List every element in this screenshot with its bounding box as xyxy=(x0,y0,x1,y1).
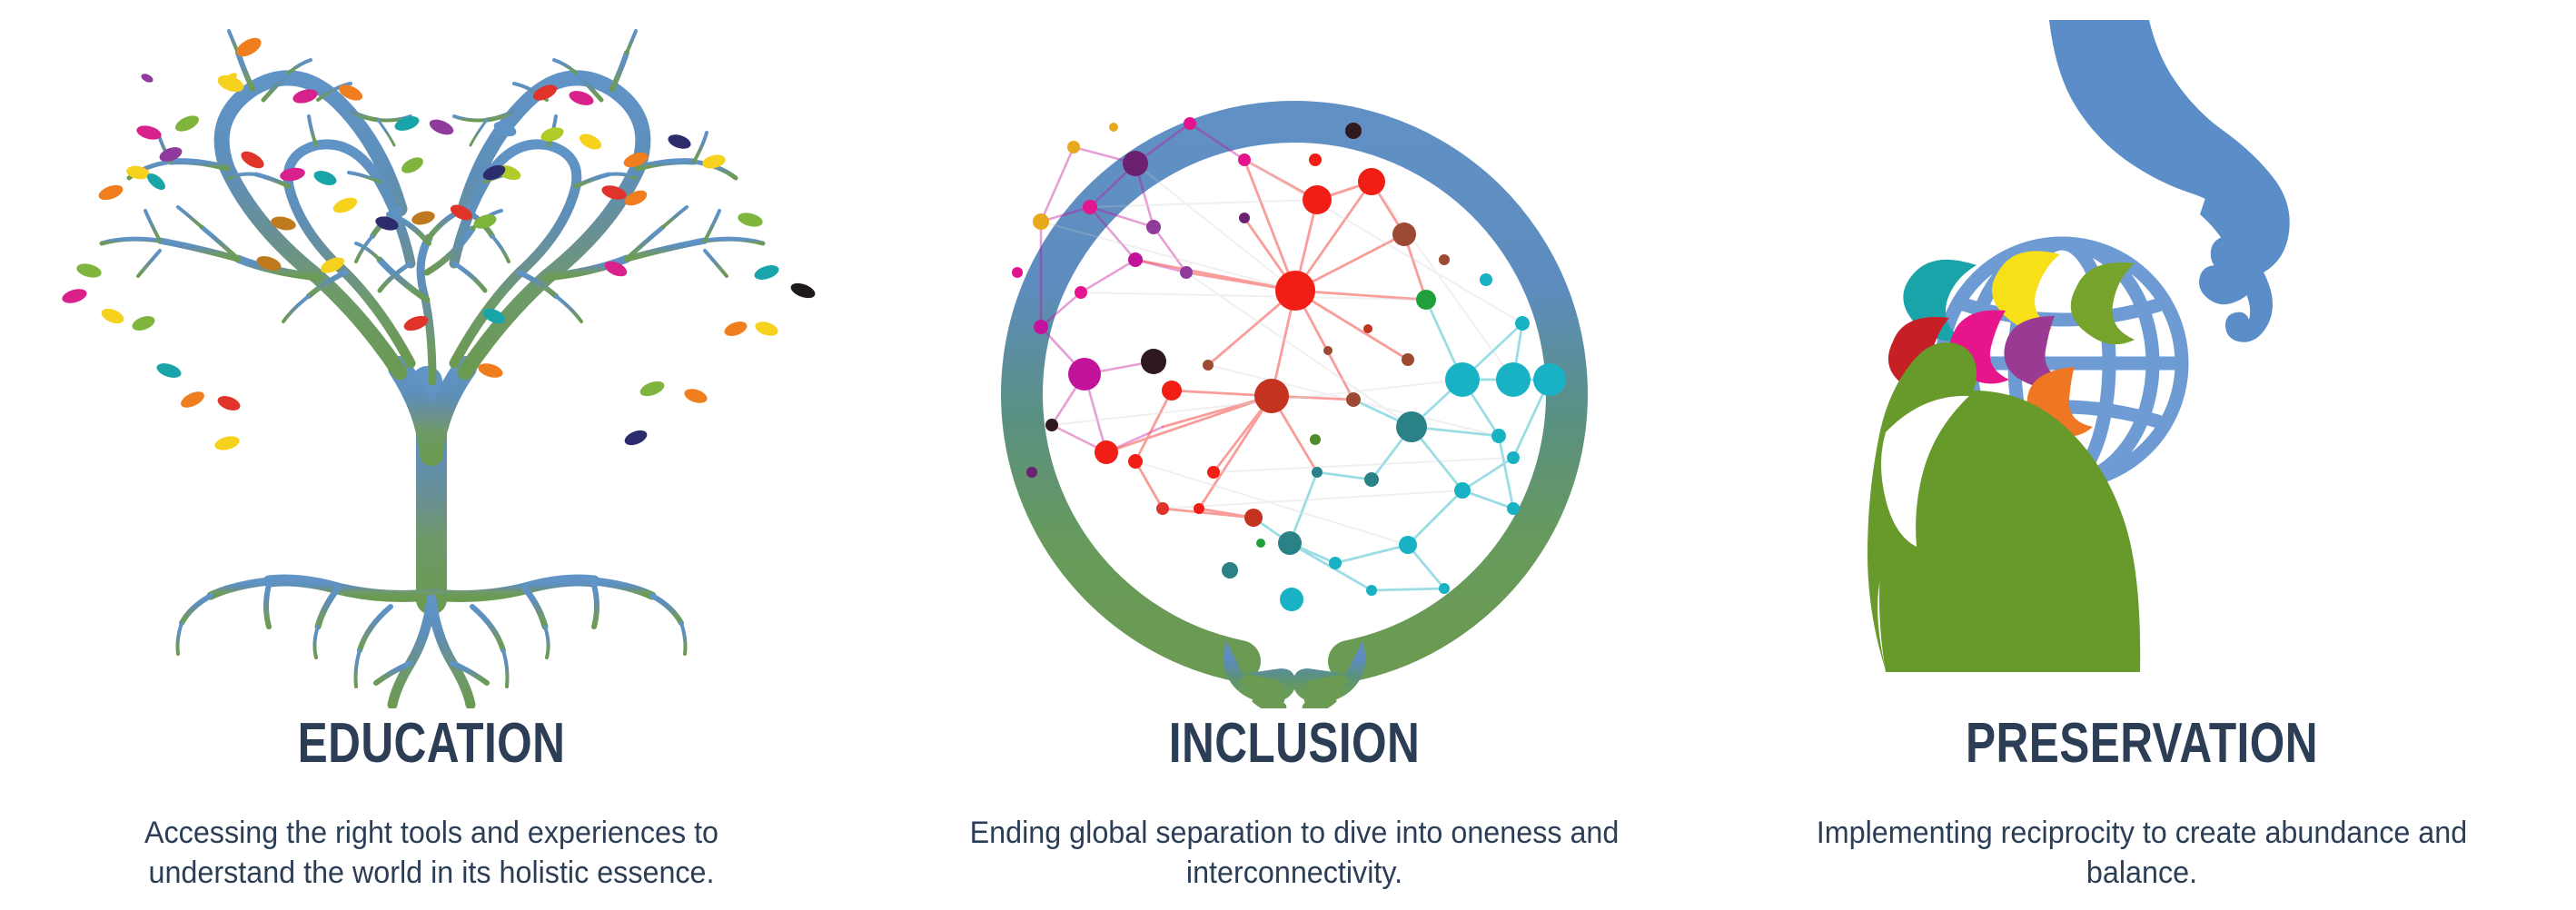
pillar-title-preservation: PRESERVATION xyxy=(1795,716,2490,772)
inclusion-illustration xyxy=(863,0,1726,708)
pillar-column-education: EDUCATION Accessing the right tools and … xyxy=(0,0,863,910)
hands-ring xyxy=(1022,122,1567,661)
tree-structure xyxy=(102,31,763,707)
preservation-illustration xyxy=(1708,0,2576,708)
pillar-description-inclusion: Ending global separation to dive into on… xyxy=(885,813,1705,893)
three-pillar-infographic: EDUCATION Accessing the right tools and … xyxy=(0,0,2576,910)
education-illustration xyxy=(0,0,863,708)
pillar-title-education: EDUCATION xyxy=(86,716,777,772)
pillar-description-preservation: Implementing reciprocity to create abund… xyxy=(1729,813,2554,893)
pillar-column-inclusion: INCLUSION Ending global separation to di… xyxy=(863,0,1726,910)
pillar-column-preservation: PRESERVATION Implementing reciprocity to… xyxy=(1708,0,2576,910)
pillar-title-inclusion: INCLUSION xyxy=(949,716,1640,772)
pillar-description-education: Accessing the right tools and experience… xyxy=(22,813,842,893)
hand-lower-green xyxy=(1868,342,2140,672)
